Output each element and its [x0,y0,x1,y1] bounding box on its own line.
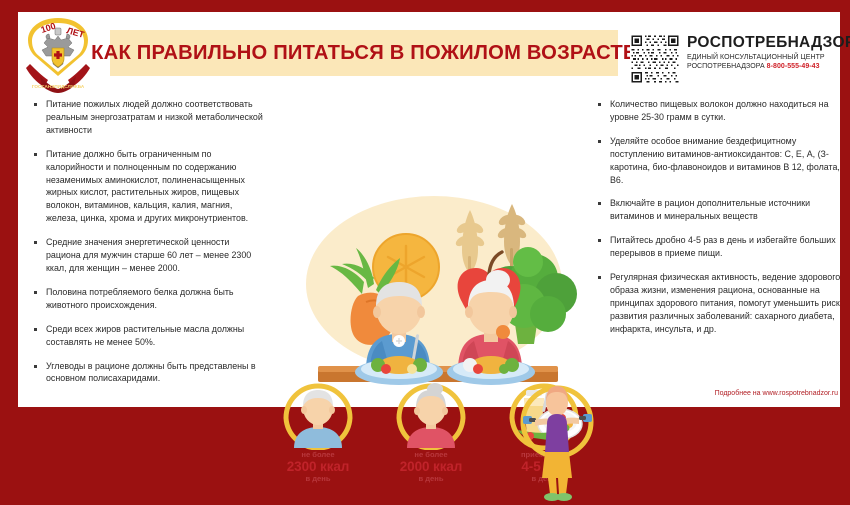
poster-sheet: ГОССАНЭПИДСЛУЖБА 100 ЛЕТ КАК ПРАВИЛЬНО П… [18,12,840,407]
rospotrebnadzor-emblem-icon: ГОССАНЭПИДСЛУЖБА 100 ЛЕТ [22,14,94,94]
right-bullet-list: Количество пищевых волокон должно находи… [596,98,846,336]
svg-text:ГОССАНЭПИДСЛУЖБА: ГОССАНЭПИДСЛУЖБА [32,84,85,89]
qr-code-icon[interactable] [630,34,680,84]
poster-body: Питание пожилых людей должно соответство… [18,98,840,407]
badge-period: в день [383,475,479,484]
footer-note: Подробнее на www.rospotrebnadzor.ru [715,390,838,397]
list-item: Средние значения энергетической ценности… [32,236,264,275]
list-item: Углеводы в рационе должны быть представл… [32,360,264,386]
list-item: Количество пищевых волокон должно находи… [596,98,846,124]
list-item: Питание пожилых людей должно соответство… [32,98,264,137]
list-item: Включайте в рацион дополнительные источн… [596,197,846,223]
brand-center-line2-text: РОСПОТРЕБНАДЗОРА [687,63,765,70]
left-bullet-list: Питание пожилых людей должно соответство… [32,98,264,385]
list-item: Среди всех жиров растительные масла долж… [32,323,264,349]
list-item: Питание должно быть ограниченным по кало… [32,148,264,225]
list-item: Регулярная физическая активность, ведени… [596,271,846,336]
list-item: Половина потребляемого белка должна быть… [32,286,264,312]
brand-block: РОСПОТРЕБНАДЗОР ЕДИНЫЙ КОНСУЛЬТАЦИОННЫЙ … [630,34,850,84]
poster-root: ГОССАНЭПИДСЛУЖБА 100 ЛЕТ КАК ПРАВИЛЬНО П… [0,0,850,429]
rospotrebnadzor-website-link[interactable]: www.rospotrebnadzor.ru [763,390,838,397]
elderly-woman-icon [383,380,479,450]
brand-center-line1: ЕДИНЫЙ КОНСУЛЬТАЦИОННЫЙ ЦЕНТР [687,53,850,62]
badge-period: в день [270,475,366,484]
badge-value: 2300 ккал [270,459,366,475]
brand-organization: РОСПОТРЕБНАДЗОР [687,35,850,51]
footer-note-prefix: Подробнее на [715,390,763,397]
central-illustration: не более 2300 ккал в день [266,184,596,505]
badge-value: 2000 ккал [383,459,479,475]
list-item: Питайтесь дробно 4-5 раз в день и избега… [596,234,846,260]
elderly-couple-eating-illustration [266,184,596,399]
page-title: КАК ПРАВИЛЬНО ПИТАТЬСЯ В ПОЖИЛОМ ВОЗРАСТ… [91,41,636,65]
badge-men-calories: не более 2300 ккал в день [270,380,366,500]
badge-caption: не более [270,451,366,459]
right-column: Количество пищевых волокон должно находи… [596,98,846,347]
list-item: Уделяйте особое внимание бездефицитному … [596,135,846,187]
badge-caption: не более [383,451,479,459]
poster-title-band: КАК ПРАВИЛЬНО ПИТАТЬСЯ В ПОЖИЛОМ ВОЗРАСТ… [110,30,618,76]
brand-text: РОСПОТРЕБНАДЗОР ЕДИНЫЙ КОНСУЛЬТАЦИОННЫЙ … [687,34,850,71]
elderly-man-icon [270,380,366,450]
woman-exercising-illustration [509,380,605,502]
brand-center-line2: РОСПОТРЕБНАДЗОРА 8-800-555-49-43 [687,62,850,71]
poster-header: ГОССАНЭПИДСЛУЖБА 100 ЛЕТ КАК ПРАВИЛЬНО П… [18,12,840,98]
badge-women-calories: не более 2000 ккал в день [383,380,479,500]
hotline-phone[interactable]: 8-800-555-49-43 [767,63,820,70]
left-column: Питание пожилых людей должно соответство… [32,98,264,396]
